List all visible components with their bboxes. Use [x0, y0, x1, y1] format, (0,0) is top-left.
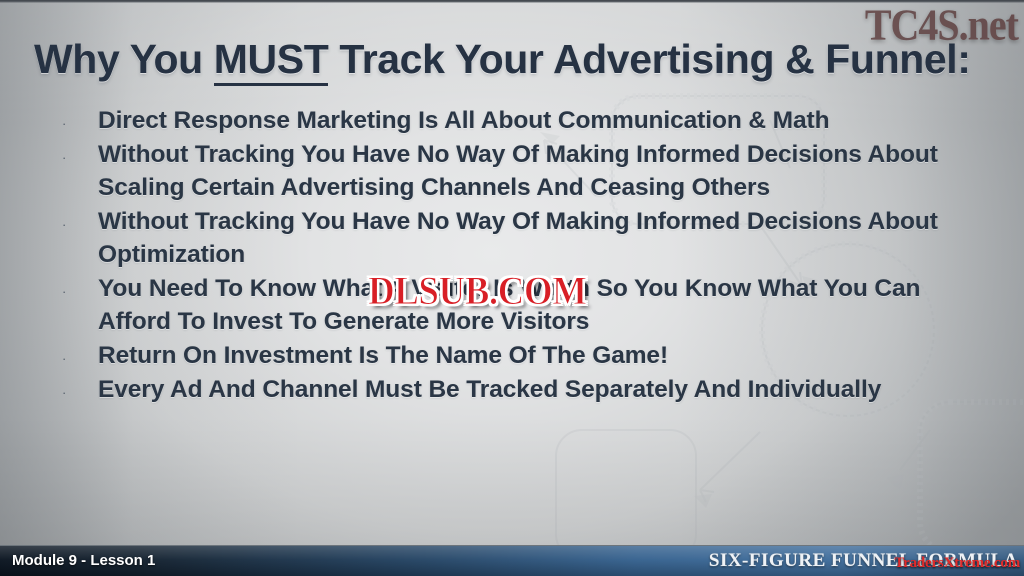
list-item: · Without Tracking You Have No Way Of Ma… — [62, 138, 997, 204]
watermark-dlsub: DLSUB.COM — [368, 268, 587, 314]
list-item-text: Direct Response Marketing Is All About C… — [98, 104, 997, 137]
bullet-dot-icon: · — [62, 205, 98, 231]
footer-lesson-label: Module 9 - Lesson 1 — [12, 552, 155, 569]
list-item: · Return On Investment Is The Name Of Th… — [62, 339, 997, 372]
bullet-dot-icon: · — [62, 339, 98, 365]
bullet-dot-icon: · — [62, 138, 98, 164]
presentation-slide: Why You MUST Track Your Advertising & Fu… — [0, 0, 1024, 576]
slide-footer-bar: Module 9 - Lesson 1 SIX-FIGURE FUNNEL FO… — [0, 545, 1024, 576]
bullet-dot-icon: · — [62, 272, 98, 298]
bullet-list: · Direct Response Marketing Is All About… — [62, 104, 997, 407]
page-title: Why You MUST Track Your Advertising & Fu… — [34, 36, 994, 83]
list-item: · Every Ad And Channel Must Be Tracked S… — [62, 373, 997, 406]
bullet-dot-icon: · — [62, 373, 98, 399]
watermark-tc4s: TC4S.net — [865, 0, 1018, 51]
list-item-text: Return On Investment Is The Name Of The … — [98, 339, 997, 372]
list-item-text: Every Ad And Channel Must Be Tracked Sep… — [98, 373, 997, 406]
list-item-text: Without Tracking You Have No Way Of Maki… — [98, 205, 997, 271]
title-text-before: Why You — [34, 36, 214, 82]
list-item-text: Without Tracking You Have No Way Of Maki… — [98, 138, 997, 204]
title-emphasis-must: MUST — [214, 36, 329, 86]
watermark-tradersxtreme: TradersXtreme.com — [894, 555, 1020, 572]
list-item: · Without Tracking You Have No Way Of Ma… — [62, 205, 997, 271]
bullet-dot-icon: · — [62, 104, 98, 130]
list-item: · Direct Response Marketing Is All About… — [62, 104, 997, 137]
